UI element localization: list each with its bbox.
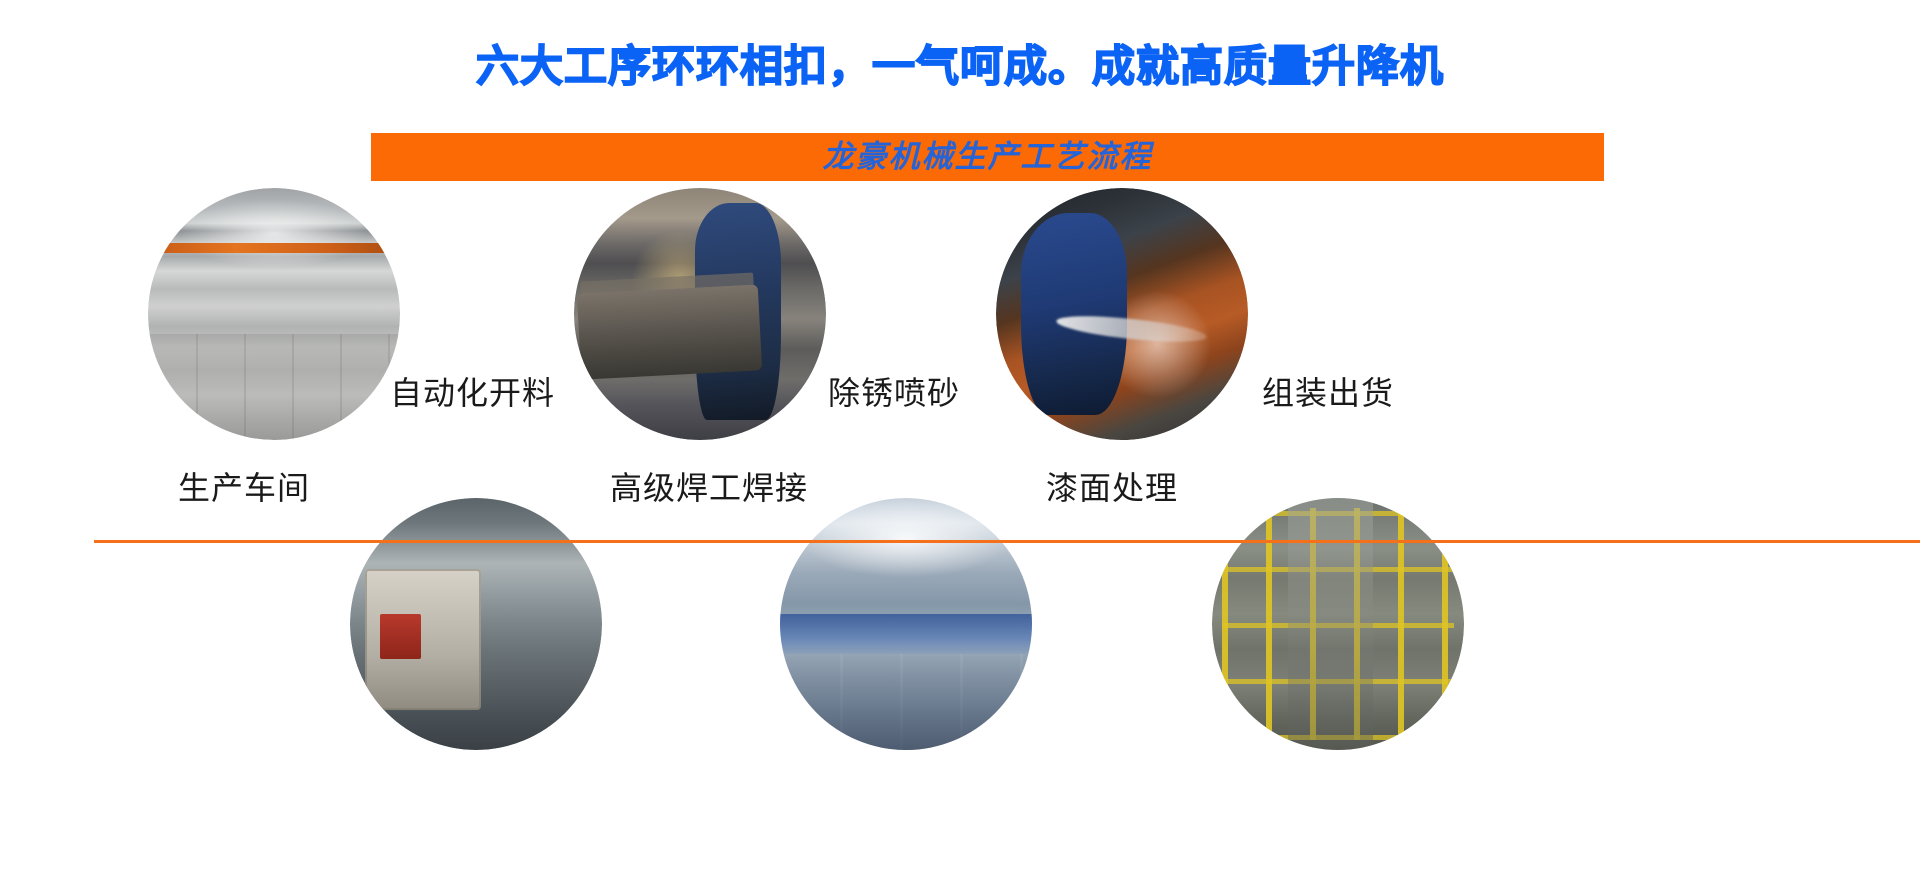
cnc-lathe-photo (350, 498, 602, 750)
step-label-senior-welding: 高级焊工焊接 (610, 468, 808, 508)
sandblasting-image (996, 188, 1248, 440)
assembly-shipping-photo (1212, 498, 1464, 750)
step-label-automated-cutting: 自动化开料 (390, 373, 555, 413)
paint-booth-photo (780, 498, 1032, 750)
assembly-shipping-image (1212, 498, 1464, 750)
sub-banner: 龙豪机械生产工艺流程 (371, 133, 1604, 181)
step-label-paint-finishing: 漆面处理 (1046, 468, 1178, 508)
steel-cutting-photo (574, 188, 826, 440)
process-flow-page: 六大工序环环相扣，一气呵成。成就高质量升降机 龙豪机械生产工艺流程 自动化开料 … (0, 0, 1920, 884)
paint-booth-image (780, 498, 1032, 750)
step-label-rust-removal: 除锈喷砂 (828, 373, 960, 413)
step-label-production-workshop: 生产车间 (178, 468, 310, 508)
sandblasting-photo (996, 188, 1248, 440)
cnc-lathe-image (350, 498, 602, 750)
step-label-assembly-shipping: 组装出货 (1262, 373, 1394, 413)
section-divider (94, 540, 1920, 543)
factory-workshop-image (148, 188, 400, 440)
factory-workshop-photo (148, 188, 400, 440)
page-title: 六大工序环环相扣，一气呵成。成就高质量升降机 (0, 40, 1920, 94)
steel-cutting-image (574, 188, 826, 440)
sub-banner-label: 龙豪机械生产工艺流程 (823, 140, 1153, 174)
